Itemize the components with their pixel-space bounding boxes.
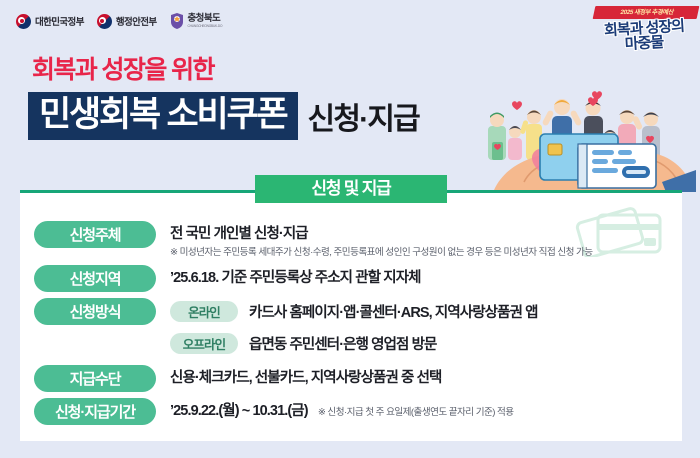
table-row: 지급수단 신용·체크카드, 선불카드, 지역사랑상품권 중 선택 bbox=[20, 365, 682, 392]
logo-label-chungbuk-wrap: 충청북도 CHUNGCHEONGBUK-DO bbox=[188, 14, 223, 28]
logo-korea-government: 대한민국정부 bbox=[16, 14, 84, 29]
page-title-suffix: 신청·지급 bbox=[308, 94, 419, 138]
hero-illustration bbox=[466, 86, 696, 192]
government-logo-bar: 대한민국정부 행정안전부 충청북도 CHUNGCHEONGBUK-DO bbox=[16, 13, 222, 29]
row-body-payment-method: 신용·체크카드, 선불카드, 지역사랑상품권 중 선택 bbox=[156, 365, 668, 392]
logo-sublabel-chungbuk: CHUNGCHEONGBUK-DO bbox=[188, 25, 223, 28]
row-body-applicant: 전 국민 개인별 신청·지급 ※ 미성년자는 주민등록 세대주가 신청·수령, … bbox=[156, 221, 668, 259]
taegeuk-icon bbox=[16, 14, 31, 29]
headline-title-row: 민생회복 소비쿠폰 신청·지급 bbox=[28, 92, 419, 140]
method-text-online: 카드사 홈페이지·앱·콜센터·ARS, 지역사랑상품권 앱 bbox=[249, 301, 538, 322]
row-value-payment-method: 신용·체크카드, 선불카드, 지역사랑상품권 중 선택 bbox=[170, 365, 668, 392]
method-offline: 오프라인 읍면동 주민센터·은행 영업점 방문 bbox=[170, 330, 668, 357]
row-value-region: ’25.6.18. 기준 주민등록상 주소지 관할 지자체 bbox=[170, 265, 668, 292]
row-body-method: 온라인 카드사 홈페이지·앱·콜센터·ARS, 지역사랑상품권 앱 오프라인 읍… bbox=[156, 298, 668, 357]
page-title: 민생회복 소비쿠폰 bbox=[28, 92, 298, 140]
row-value-period: ’25.9.22.(월) ~ 10.31.(금) ※ 신청·지급 첫 주 요일제… bbox=[170, 398, 668, 426]
panel-title: 신청 및 지급 bbox=[255, 175, 446, 203]
logo-label-ministry: 행정안전부 bbox=[116, 14, 157, 28]
row-label-method: 신청방식 bbox=[34, 298, 156, 325]
row-body-region: ’25.6.18. 기준 주민등록상 주소지 관할 지자체 bbox=[156, 265, 668, 292]
table-row: 신청지역 ’25.6.18. 기준 주민등록상 주소지 관할 지자체 bbox=[20, 265, 682, 292]
chungbuk-shield-icon bbox=[170, 13, 184, 29]
logo-label-chungbuk: 충청북도 bbox=[188, 14, 223, 24]
table-row: 신청·지급기간 ’25.9.22.(월) ~ 10.31.(금) ※ 신청·지급… bbox=[20, 398, 682, 426]
row-label-period: 신청·지급기간 bbox=[34, 398, 156, 425]
logo-ministry-interior-safety: 행정안전부 bbox=[97, 14, 157, 29]
method-tag-online: 온라인 bbox=[170, 301, 238, 322]
taegeuk-icon bbox=[97, 14, 112, 29]
method-online: 온라인 카드사 홈페이지·앱·콜센터·ARS, 지역사랑상품권 앱 bbox=[170, 298, 668, 325]
row-label-payment-method: 지급수단 bbox=[34, 365, 156, 392]
campaign-ribbon-badge: 2025 새정부 추경예산 회복과 성장의 마중물 bbox=[588, 0, 700, 54]
row-body-period: ’25.9.22.(월) ~ 10.31.(금) ※ 신청·지급 첫 주 요일제… bbox=[156, 398, 668, 426]
method-text-offline: 읍면동 주민센터·은행 영업점 방문 bbox=[249, 333, 436, 354]
row-note-applicant: ※ 미성년자는 주민등록 세대주가 신청·수령, 주민등록표에 성인인 구성원이… bbox=[170, 246, 668, 259]
headline-kicker: 회복과 성장을 위한 bbox=[32, 50, 214, 86]
info-panel: 신청 및 지급 신청주체 전 국민 개인별 신청·지급 ※ 미성년자는 주민등록… bbox=[20, 190, 682, 441]
table-row: 신청주체 전 국민 개인별 신청·지급 ※ 미성년자는 주민등록 세대주가 신청… bbox=[20, 221, 682, 259]
row-value-period-text: ’25.9.22.(월) ~ 10.31.(금) bbox=[170, 403, 308, 419]
row-value-applicant: 전 국민 개인별 신청·지급 bbox=[170, 221, 668, 248]
row-label-applicant: 신청주체 bbox=[34, 221, 156, 248]
row-note-period: ※ 신청·지급 첫 주 요일제(출생연도 끝자리 기준) 적용 bbox=[318, 407, 514, 418]
row-label-region: 신청지역 bbox=[34, 265, 156, 292]
poster-root: 대한민국정부 행정안전부 충청북도 CHUNGCHEONGBUK-DO 2025… bbox=[0, 0, 700, 458]
table-row: 신청방식 온라인 카드사 홈페이지·앱·콜센터·ARS, 지역사랑상품권 앱 오… bbox=[20, 298, 682, 357]
method-tag-offline: 오프라인 bbox=[170, 333, 238, 354]
info-rows: 신청주체 전 국민 개인별 신청·지급 ※ 미성년자는 주민등록 세대주가 신청… bbox=[20, 221, 682, 430]
logo-label-korea-government: 대한민국정부 bbox=[35, 14, 84, 28]
logo-chungcheongbuk-do: 충청북도 CHUNGCHEONGBUK-DO bbox=[170, 13, 223, 29]
